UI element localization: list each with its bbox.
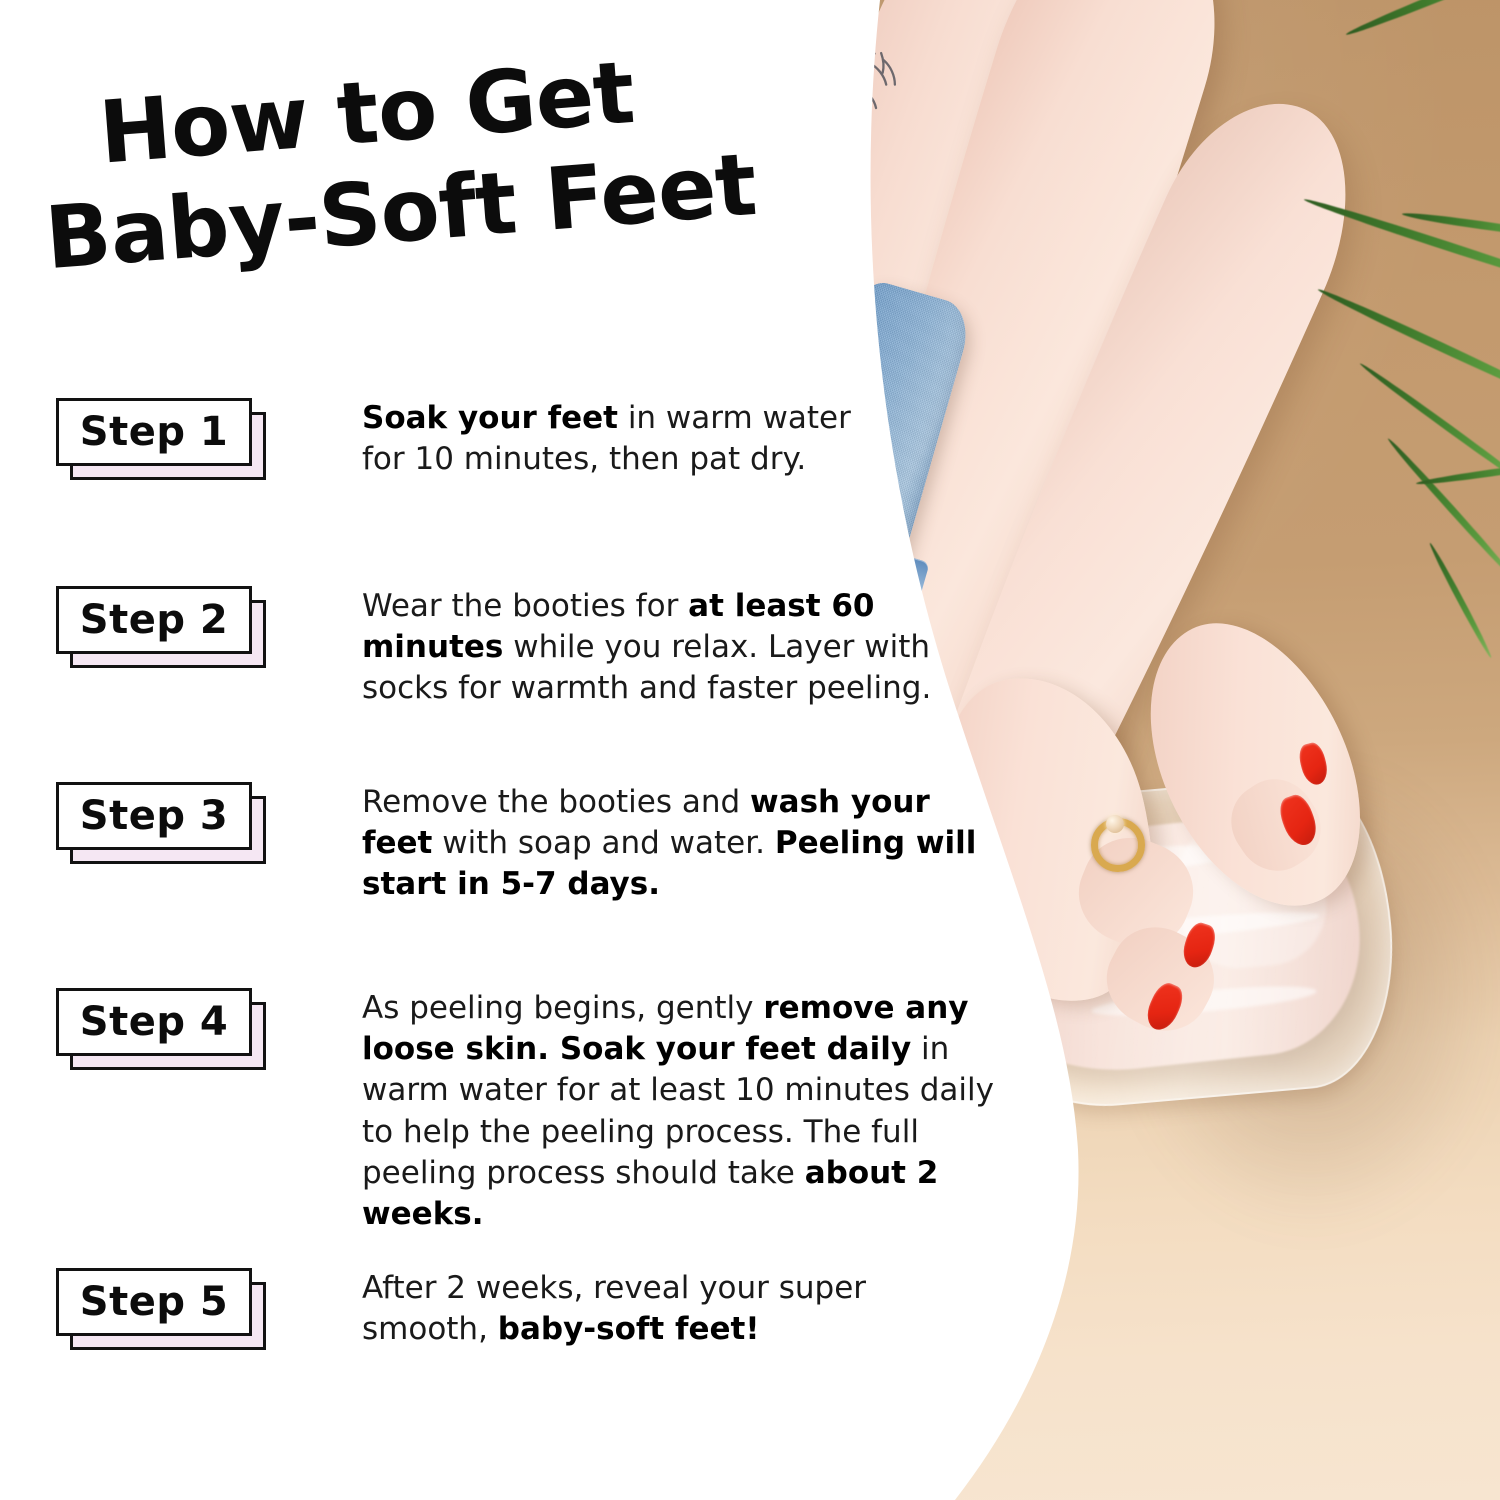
list-item: Step 3 Remove the booties and wash your … xyxy=(56,782,982,906)
step-badge-label: Step 1 xyxy=(80,412,228,452)
step-badge: Step 4 xyxy=(56,988,268,1072)
step-badge-face: Step 5 xyxy=(56,1268,252,1336)
list-item: Step 1 Soak your feet in warm water for … xyxy=(56,398,862,482)
step-badge-label: Step 4 xyxy=(80,1002,228,1042)
ring-gem xyxy=(1106,815,1124,833)
list-item: Step 2 Wear the booties for at least 60 … xyxy=(56,586,952,710)
step-description: After 2 weeks, reveal your super smooth,… xyxy=(268,1268,1000,1350)
infographic-canvas: How to Get Baby-Soft Feet Step 1 Soak yo… xyxy=(0,0,1500,1500)
step-badge: Step 2 xyxy=(56,586,268,670)
step-description: Soak your feet in warm water for 10 minu… xyxy=(268,398,862,480)
step-description: Remove the booties and wash your feet wi… xyxy=(268,782,982,906)
step-badge: Step 1 xyxy=(56,398,268,482)
step-badge: Step 5 xyxy=(56,1268,268,1352)
page-title: How to Get Baby-Soft Feet xyxy=(96,29,849,284)
step-badge-label: Step 3 xyxy=(80,796,228,836)
step-badge-face: Step 1 xyxy=(56,398,252,466)
list-item: Step 4 As peeling begins, gently remove … xyxy=(56,988,1000,1235)
list-item: Step 5 After 2 weeks, reveal your super … xyxy=(56,1268,1000,1352)
step-badge-face: Step 4 xyxy=(56,988,252,1056)
step-badge-face: Step 3 xyxy=(56,782,252,850)
step-badge: Step 3 xyxy=(56,782,268,866)
step-badge-label: Step 5 xyxy=(80,1282,228,1322)
step-description: As peeling begins, gently remove any loo… xyxy=(268,988,1000,1235)
step-badge-face: Step 2 xyxy=(56,586,252,654)
step-badge-label: Step 2 xyxy=(80,600,228,640)
step-description: Wear the booties for at least 60 minutes… xyxy=(268,586,952,710)
